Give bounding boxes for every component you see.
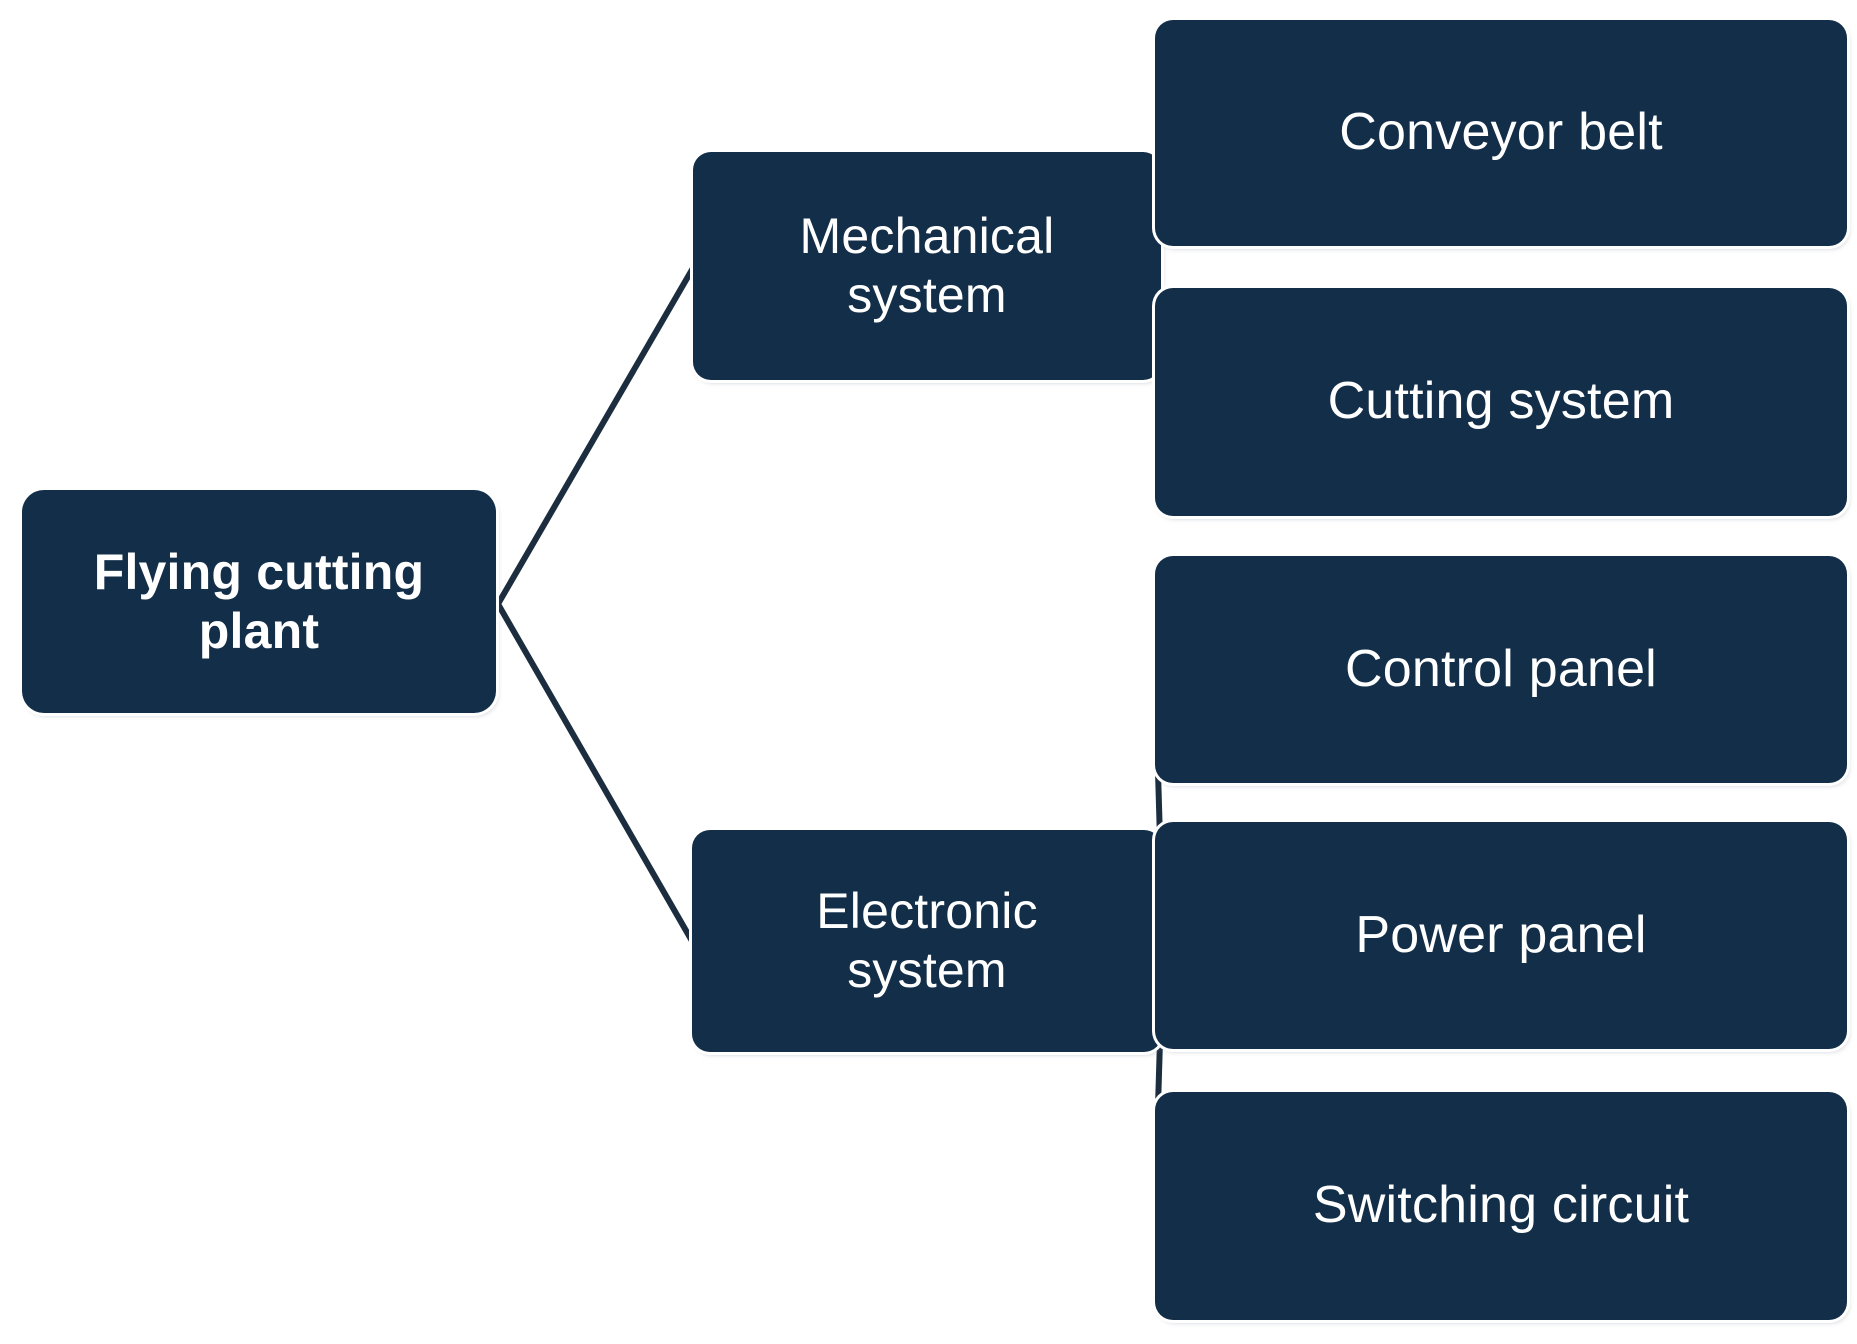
node-electronic-system[interactable]: Electronic system xyxy=(692,830,1162,1052)
node-label: Control panel xyxy=(1331,639,1671,700)
node-flying-cutting-plant[interactable]: Flying cutting plant xyxy=(22,490,496,713)
node-label: Power panel xyxy=(1341,905,1660,966)
diagram-canvas: Flying cutting plant Mechanical system E… xyxy=(0,0,1857,1344)
node-mechanical-system[interactable]: Mechanical system xyxy=(693,152,1161,380)
node-label: Electronic system xyxy=(802,882,1052,1000)
node-switching-circuit[interactable]: Switching circuit xyxy=(1155,1092,1847,1320)
node-label: Mechanical system xyxy=(786,207,1069,325)
node-label: Conveyor belt xyxy=(1325,102,1676,163)
node-label: Switching circuit xyxy=(1299,1175,1703,1236)
node-label: Flying cutting plant xyxy=(80,543,439,661)
edge-root-to-mechanical xyxy=(498,268,693,604)
node-power-panel[interactable]: Power panel xyxy=(1155,822,1847,1049)
node-label: Cutting system xyxy=(1314,371,1689,432)
node-conveyor-belt[interactable]: Conveyor belt xyxy=(1155,20,1847,246)
node-cutting-system[interactable]: Cutting system xyxy=(1155,288,1847,516)
node-control-panel[interactable]: Control panel xyxy=(1155,556,1847,783)
edge-root-to-electronic xyxy=(498,604,692,941)
